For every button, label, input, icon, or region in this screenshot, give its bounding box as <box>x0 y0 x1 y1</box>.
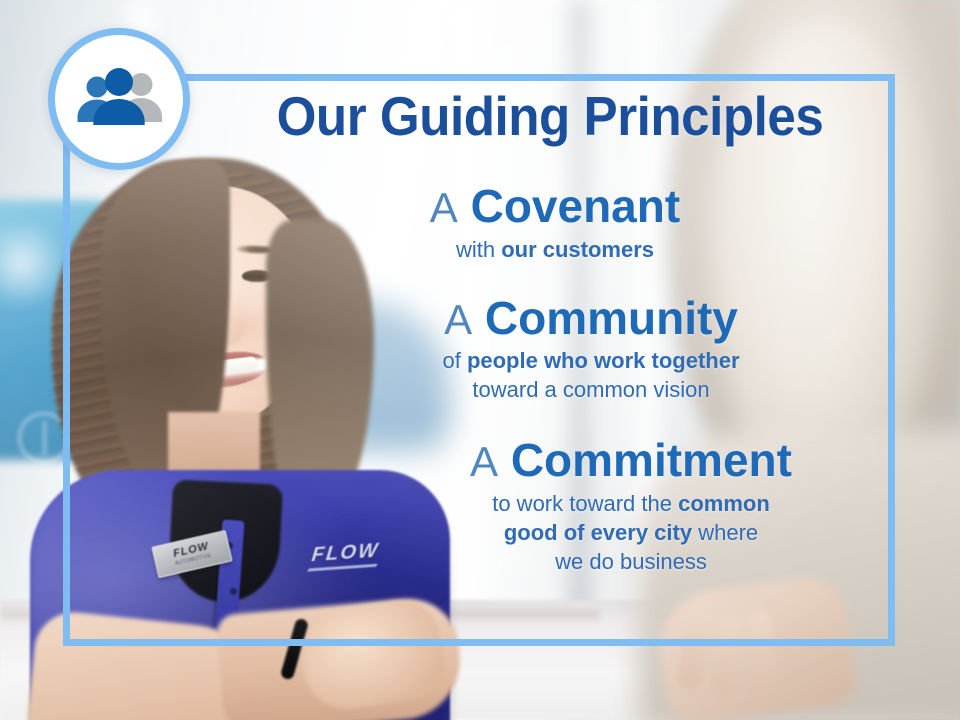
shirt-button <box>230 588 237 595</box>
subtext-bold: our customers <box>501 237 654 262</box>
principles-list: A Covenant with our customers A Communit… <box>210 182 900 582</box>
subtext-line: we do business <box>362 547 900 576</box>
principle-title: A Community <box>282 294 900 344</box>
headline-block: Our Guiding Principles <box>215 88 885 145</box>
subtext-bold: common <box>678 491 770 516</box>
people-group-icon <box>72 66 166 132</box>
principles-icon-badge <box>48 28 190 170</box>
subtext-plain: to work toward the <box>492 491 678 516</box>
principle-keyword: Covenant <box>471 180 681 232</box>
principle-title: A Covenant <box>210 182 900 232</box>
principle-subtext: to work toward the common good of every … <box>362 489 900 576</box>
principle-article: A <box>430 184 458 231</box>
subtext-plain: of <box>442 348 466 373</box>
subtext-bold: good of every city <box>504 520 692 545</box>
principle-subtext: of people who work together toward a com… <box>282 346 900 404</box>
guiding-principles-graphic: FLOW FLOW AUTOMOTIVE <box>0 0 960 720</box>
principle-keyword: Commitment <box>511 434 792 486</box>
principle-article: A <box>444 296 472 343</box>
subtext-bold: people who work together <box>467 348 740 373</box>
principle-covenant: A Covenant with our customers <box>210 182 900 264</box>
customer-finger <box>745 610 774 693</box>
principle-commitment: A Commitment to work toward the common g… <box>210 436 900 576</box>
subtext-line: toward a common vision <box>282 375 900 404</box>
subtext-plain: where <box>692 520 758 545</box>
subtext-line: of people who work together <box>282 346 900 375</box>
page-title: Our Guiding Principles <box>238 88 861 145</box>
principle-subtext: with our customers <box>210 235 900 264</box>
principle-article: A <box>470 438 498 485</box>
principle-community: A Community of people who work together … <box>210 294 900 405</box>
subtext-line: to work toward the common <box>362 489 900 518</box>
subtext-plain: with <box>456 237 501 262</box>
principle-keyword: Community <box>485 292 738 344</box>
principle-title: A Commitment <box>362 436 900 486</box>
subtext-line: good of every city where <box>362 518 900 547</box>
